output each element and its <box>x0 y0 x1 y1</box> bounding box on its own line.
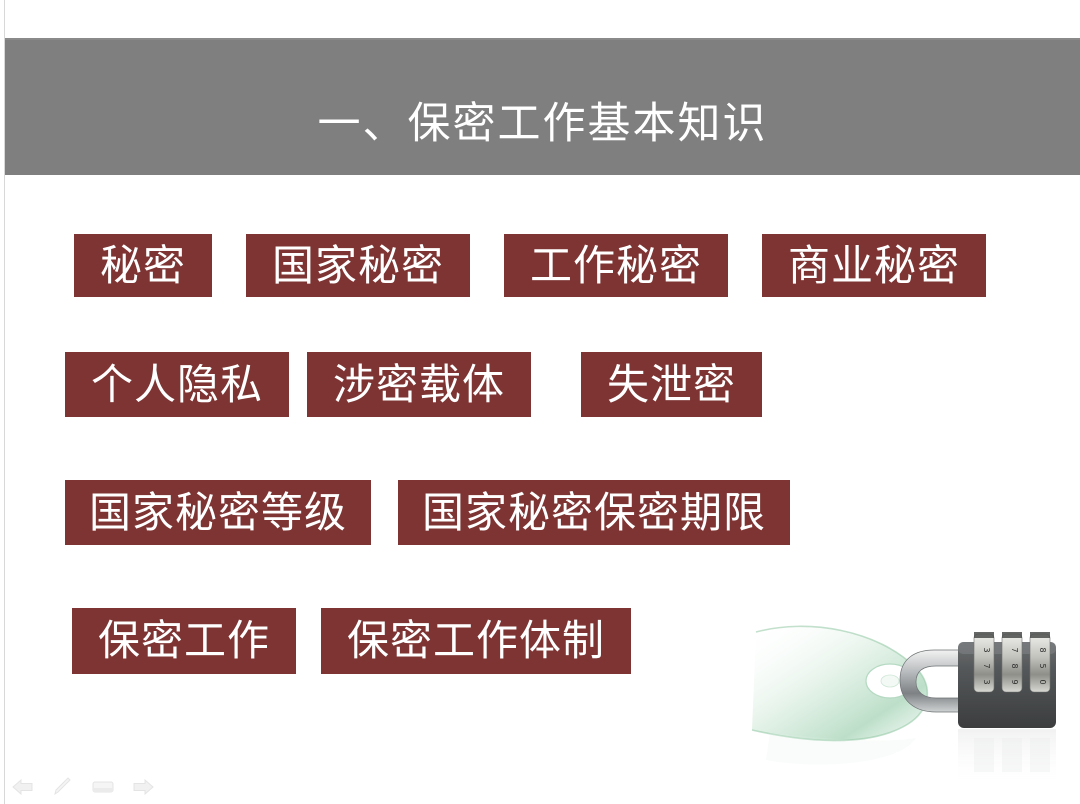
tag-box[interactable]: 保密工作体制 <box>321 608 631 674</box>
presentation-slide: 一、保密工作基本知识 秘密 国家秘密 工作秘密 商业秘密 个人隐私 涉密载体 失… <box>0 0 1080 804</box>
tag-box[interactable]: 保密工作 <box>72 608 296 674</box>
tag-box[interactable]: 国家秘密 <box>246 234 470 297</box>
tag-row-3: 国家秘密等级 国家秘密保密期限 <box>65 480 817 545</box>
svg-text:7: 7 <box>1010 647 1019 652</box>
tag-box[interactable]: 国家秘密保密期限 <box>398 480 790 545</box>
svg-text:8: 8 <box>1010 663 1019 668</box>
slide-menu-icon[interactable] <box>90 776 116 798</box>
tag-row-1: 秘密 国家秘密 工作秘密 商业秘密 <box>74 234 1020 297</box>
pen-icon[interactable] <box>50 776 76 798</box>
svg-text:0: 0 <box>1038 679 1047 684</box>
next-slide-arrow-icon[interactable] <box>130 776 156 798</box>
svg-text:9: 9 <box>1010 679 1019 684</box>
svg-text:8: 8 <box>1038 647 1047 652</box>
tag-box[interactable]: 工作秘密 <box>504 234 728 297</box>
combination-dials: 3 7 3 7 8 9 8 5 0 <box>974 632 1050 692</box>
tag-box[interactable]: 商业秘密 <box>762 234 986 297</box>
padlock-cd-photo: 3 7 3 7 8 9 8 5 0 <box>750 588 1080 804</box>
previous-slide-arrow-icon[interactable] <box>10 776 36 798</box>
tag-box[interactable]: 国家秘密等级 <box>65 480 371 545</box>
tag-box[interactable]: 失泄密 <box>581 352 762 417</box>
slideshow-nav-bar[interactable] <box>10 776 156 798</box>
tag-row-2: 个人隐私 涉密载体 失泄密 <box>65 352 780 417</box>
padlock-body: 3 7 3 7 8 9 8 5 0 <box>958 632 1056 728</box>
page-title: 一、保密工作基本知识 <box>5 38 1080 175</box>
tag-box[interactable]: 秘密 <box>74 234 212 297</box>
svg-text:5: 5 <box>1038 663 1047 668</box>
tag-box[interactable]: 涉密载体 <box>307 352 531 417</box>
tag-box[interactable]: 个人隐私 <box>65 352 289 417</box>
svg-text:3: 3 <box>982 679 991 684</box>
slide-title-banner: 一、保密工作基本知识 <box>5 38 1080 175</box>
tag-row-4: 保密工作 保密工作体制 <box>72 608 656 674</box>
svg-text:7: 7 <box>982 663 991 668</box>
svg-text:3: 3 <box>982 647 991 652</box>
